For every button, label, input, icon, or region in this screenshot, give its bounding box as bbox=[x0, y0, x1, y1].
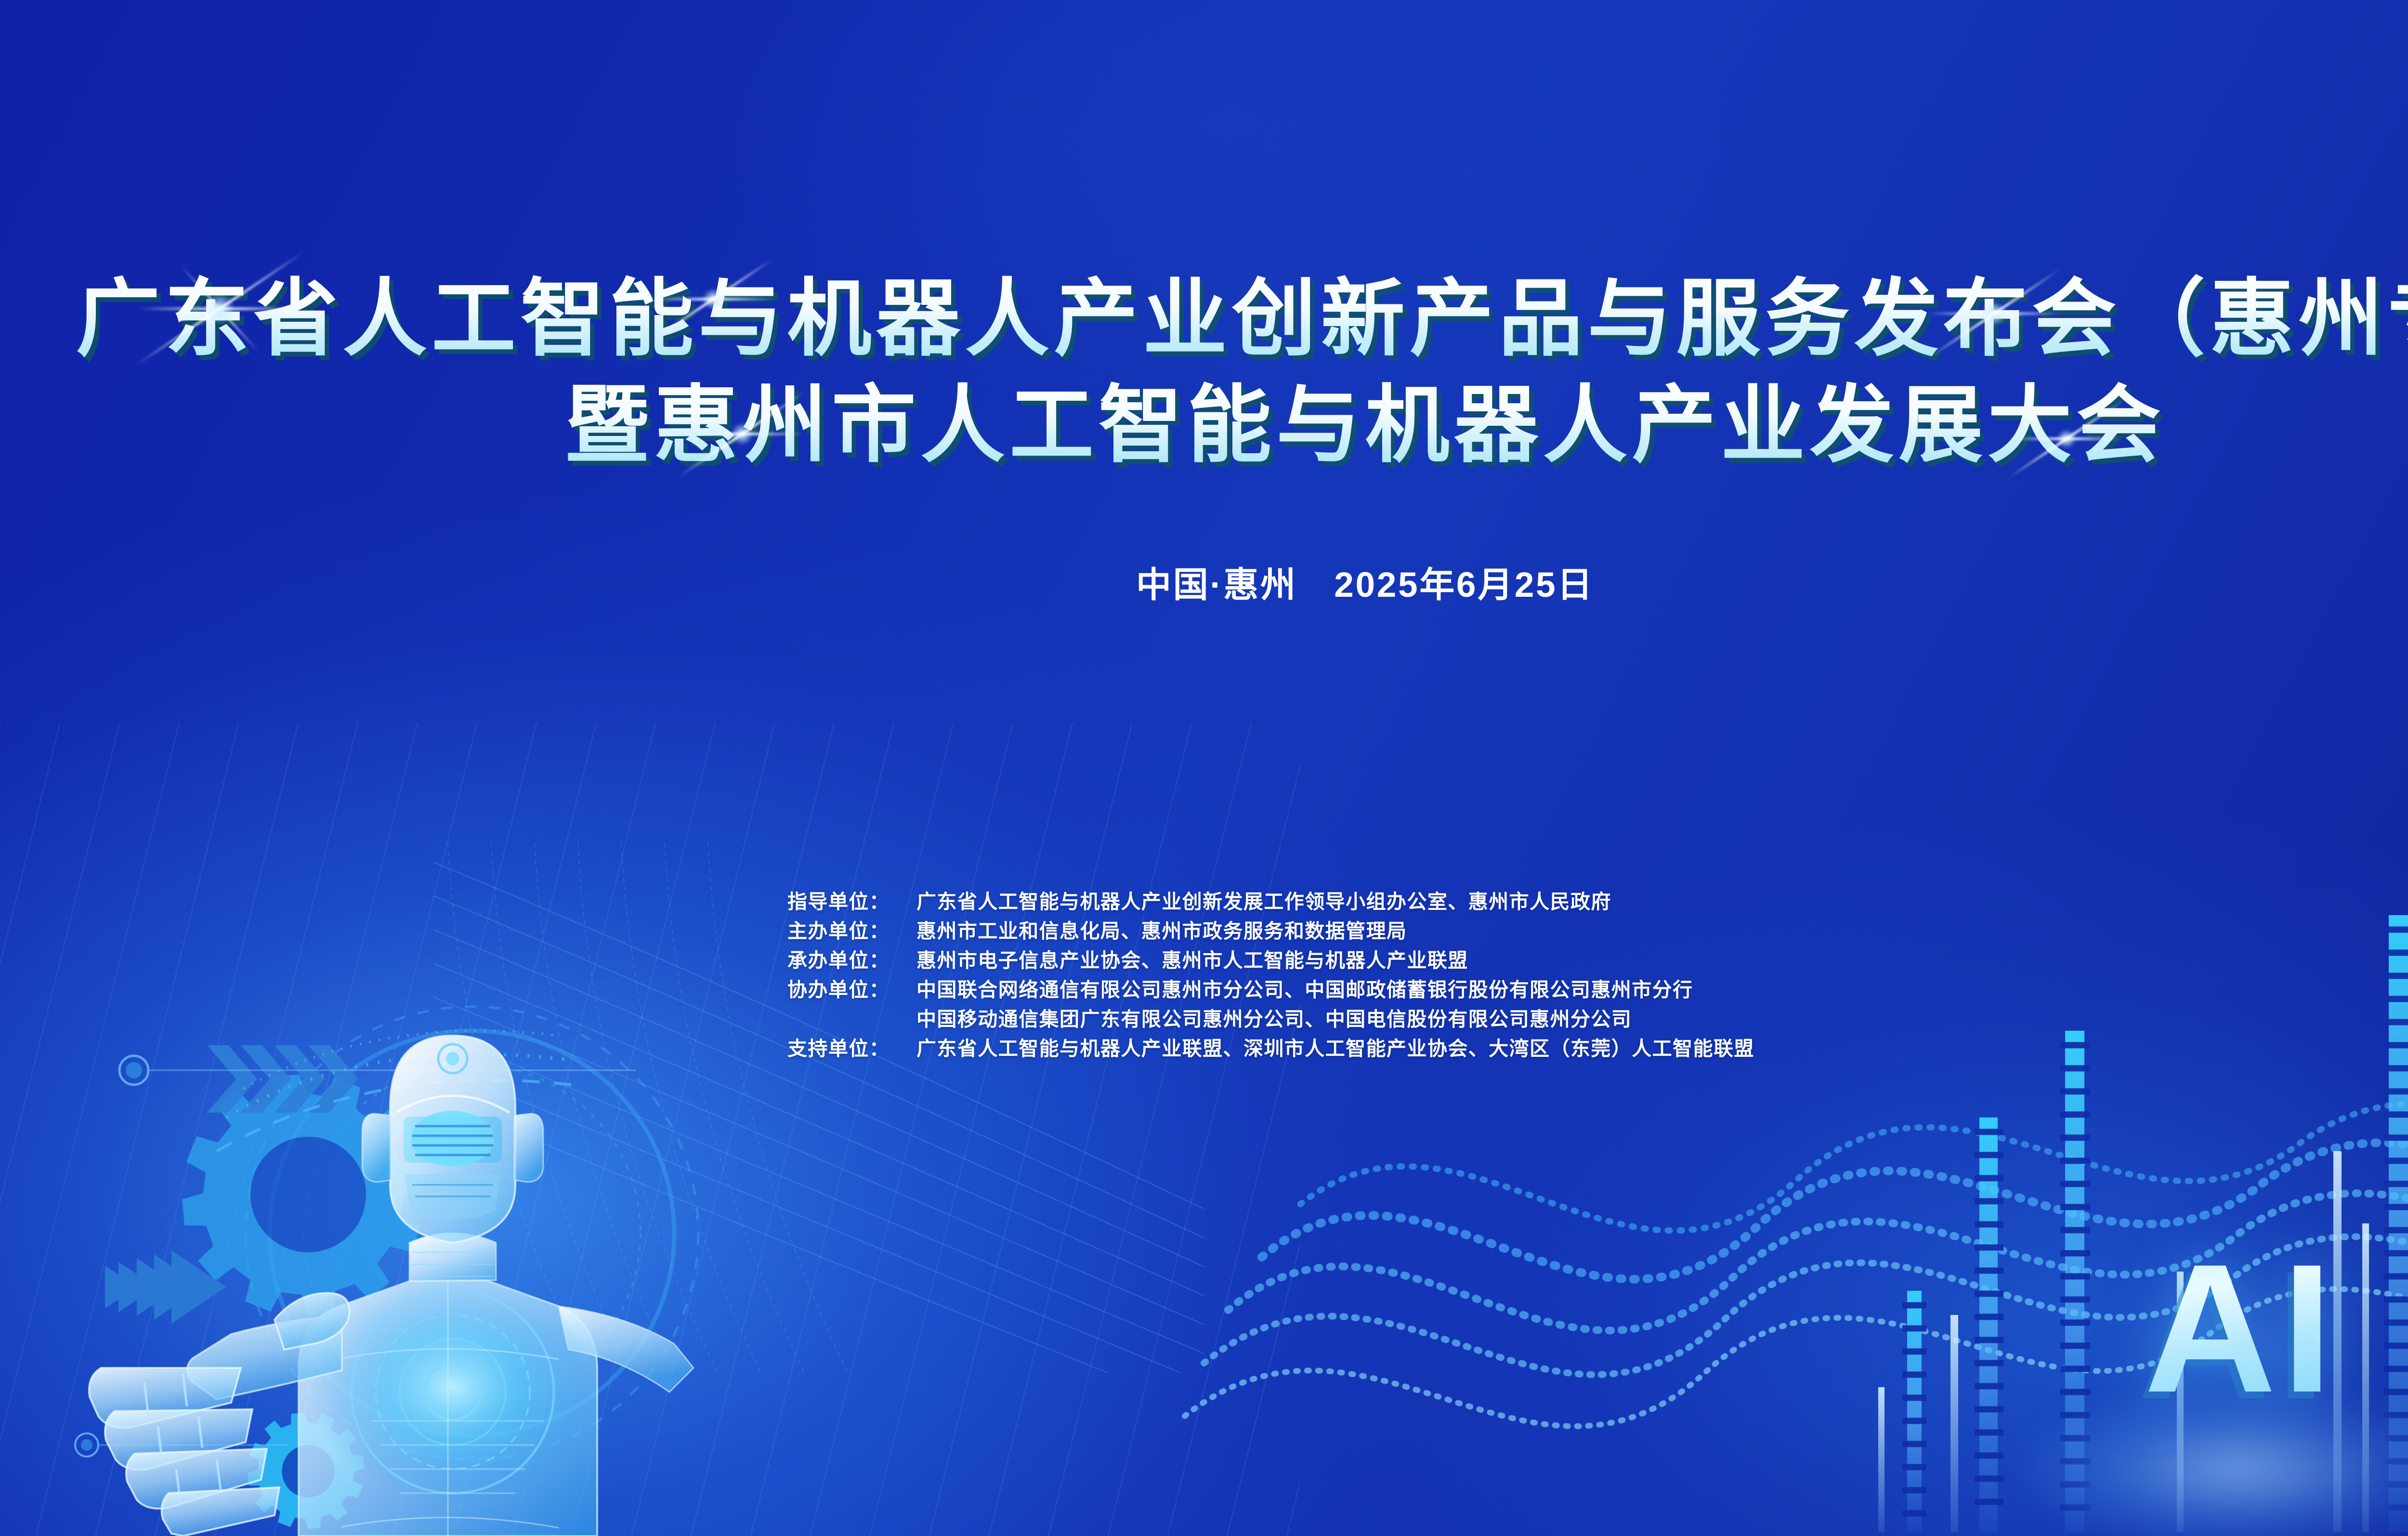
organizer-label: 主办单位： bbox=[787, 915, 916, 944]
ai-logo: AI bbox=[2144, 1237, 2338, 1420]
organizer-value: 中国联合网络通信有限公司惠州市分公司、中国邮政储蓄银行股份有限公司惠州市分行 bbox=[916, 973, 1693, 1002]
page-title-line-2: 暨惠州市人工智能与机器人产业发展大会 bbox=[0, 376, 2408, 476]
organizer-value: 惠州市电子信息产业协会、惠州市人工智能与机器人产业联盟 bbox=[916, 944, 1468, 973]
organizer-value: 中国移动通信集团广东有限公司惠州分公司、中国电信股份有限公司惠州分公司 bbox=[916, 1003, 1632, 1032]
organizer-row-continuation: 协办单位： 中国移动通信集团广东有限公司惠州分公司、中国电信股份有限公司惠州分公… bbox=[787, 1003, 1754, 1032]
organizer-row: 指导单位： 广东省人工智能与机器人产业创新发展工作领导小组办公室、惠州市人民政府 bbox=[787, 885, 1754, 915]
event-location-date: 中国·惠州 2025年6月25日 bbox=[0, 556, 2408, 607]
organizer-row: 主办单位： 惠州市工业和信息化局、惠州市政务服务和数据管理局 bbox=[787, 915, 1754, 944]
organizer-value: 惠州市工业和信息化局、惠州市政务服务和数据管理局 bbox=[916, 915, 1407, 944]
title-block: 广东省人工智能与机器人产业创新产品与服务发布会（惠州专场） 暨惠州市人工智能与机… bbox=[0, 270, 2408, 475]
organizer-value: 广东省人工智能与机器人产业创新发展工作领导小组办公室、惠州市人民政府 bbox=[916, 885, 1611, 914]
organizer-row: 协办单位： 中国联合网络通信有限公司惠州市分公司、中国邮政储蓄银行股份有限公司惠… bbox=[787, 973, 1754, 1003]
organizer-list: 指导单位： 广东省人工智能与机器人产业创新发展工作领导小组办公室、惠州市人民政府… bbox=[787, 885, 1754, 1062]
poster-canvas: 广东省人工智能与机器人产业创新产品与服务发布会（惠州专场） 暨惠州市人工智能与机… bbox=[0, 0, 2408, 1536]
organizer-label: 协办单位： bbox=[787, 973, 916, 1002]
organizer-label: 支持单位： bbox=[787, 1032, 916, 1061]
robot-illustration bbox=[72, 934, 708, 1536]
organizer-label: 指导单位： bbox=[787, 885, 916, 914]
page-title-line-1: 广东省人工智能与机器人产业创新产品与服务发布会（惠州专场） bbox=[0, 270, 2408, 369]
organizer-value: 广东省人工智能与机器人产业联盟、深圳市人工智能产业协会、大湾区（东莞）人工智能联… bbox=[916, 1032, 1754, 1061]
organizer-label: 承办单位： bbox=[787, 944, 916, 973]
organizer-row: 承办单位： 惠州市电子信息产业协会、惠州市人工智能与机器人产业联盟 bbox=[787, 944, 1754, 973]
organizer-row: 支持单位： 广东省人工智能与机器人产业联盟、深圳市人工智能产业协会、大湾区（东莞… bbox=[787, 1032, 1754, 1062]
